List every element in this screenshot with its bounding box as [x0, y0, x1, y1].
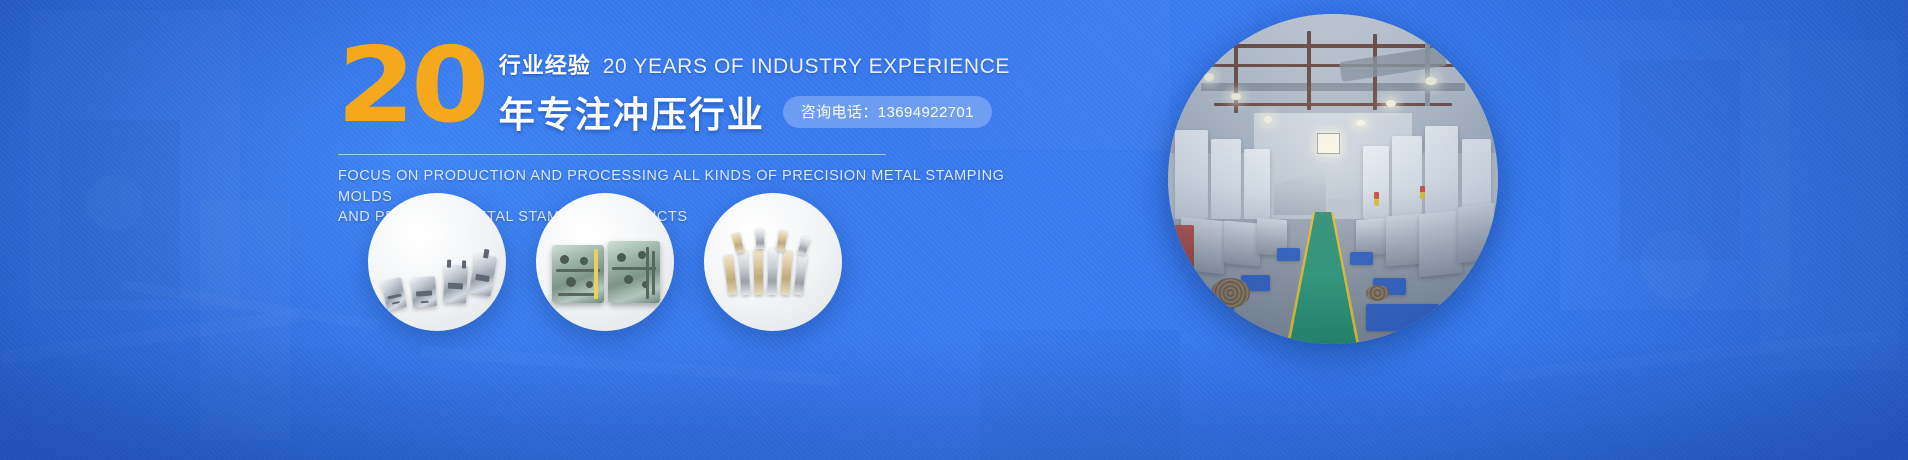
- years-number: 20: [336, 42, 485, 129]
- factory-photo-shading: [1168, 14, 1498, 344]
- divider-rule: [338, 154, 886, 155]
- industry-experience-label-cn: 行业经验: [499, 48, 591, 80]
- promo-banner: 20 行业经验 20 YEARS OF INDUSTRY EXPERIENCE …: [0, 0, 1908, 460]
- focus-stamping-label-cn: 年专注冲压行业: [499, 86, 765, 138]
- product-circle-molds[interactable]: [536, 193, 674, 331]
- factory-workshop-photo[interactable]: [1168, 14, 1498, 344]
- headline-line-1: 行业经验 20 YEARS OF INDUSTRY EXPERIENCE: [499, 48, 1010, 80]
- product-circle-pins[interactable]: [704, 193, 842, 331]
- industry-experience-label-en: 20 YEARS OF INDUSTRY EXPERIENCE: [603, 55, 1010, 79]
- headline-text-group: 行业经验 20 YEARS OF INDUSTRY EXPERIENCE 年专注…: [499, 40, 1010, 138]
- headline-row: 20 行业经验 20 YEARS OF INDUSTRY EXPERIENCE …: [338, 40, 1038, 138]
- consultation-phone-badge[interactable]: 咨询电话：13694922701: [783, 96, 992, 128]
- headline-line-2: 年专注冲压行业 咨询电话：13694922701: [499, 86, 1010, 138]
- product-circle-connectors[interactable]: [368, 193, 506, 331]
